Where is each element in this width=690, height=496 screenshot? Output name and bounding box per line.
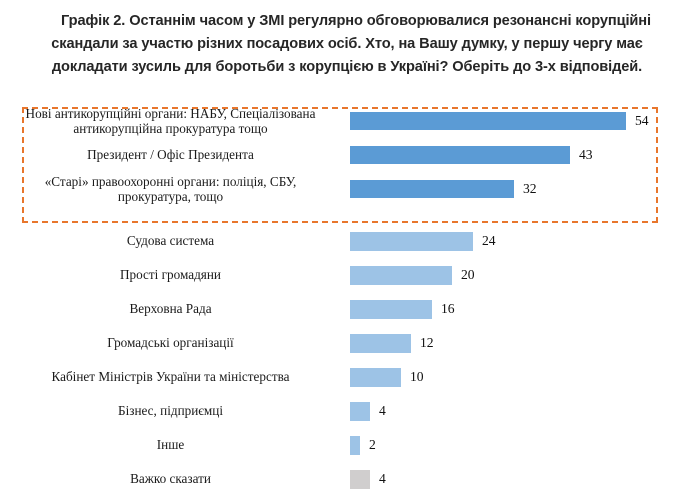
category-label: Нові антикорупційні органи: НАБУ, Спеціа… <box>0 106 345 137</box>
bar-container: 10 <box>345 360 690 394</box>
bar-row: Інше 2 <box>0 428 690 462</box>
bar-rect <box>350 368 401 387</box>
bar-rect <box>350 334 411 353</box>
bar-row: Нові антикорупційні органи: НАБУ, Спеціа… <box>0 104 690 138</box>
bar-row: Кабінет Міністрів України та міністерств… <box>0 360 690 394</box>
bar-value-label: 16 <box>441 301 455 317</box>
bar-rect <box>350 300 432 319</box>
bar-row: Бізнес, підприємці 4 <box>0 394 690 428</box>
bar-value-label: 4 <box>379 403 386 419</box>
bar-row: Судова система 24 <box>0 224 690 258</box>
category-label: Громадські організації <box>0 335 345 351</box>
bar-row: Верховна Рада 16 <box>0 292 690 326</box>
bar-value-label: 43 <box>579 147 593 163</box>
category-label: Судова система <box>0 233 345 249</box>
bar-value-label: 12 <box>420 335 434 351</box>
bar-rect <box>350 402 370 421</box>
bar-value-label: 32 <box>523 181 537 197</box>
bar-row: Громадські організації 12 <box>0 326 690 360</box>
bar-container: 32 <box>345 172 690 206</box>
bar-rect <box>350 266 452 285</box>
bar-container: 54 <box>345 104 690 138</box>
bar-value-label: 4 <box>379 471 386 487</box>
category-label: Інше <box>0 437 345 453</box>
bar-container: 4 <box>345 394 690 428</box>
bar-rect <box>350 232 473 251</box>
bar-value-label: 24 <box>482 233 496 249</box>
category-label: Кабінет Міністрів України та міністерств… <box>0 369 345 385</box>
bar-row: Важко сказати 4 <box>0 462 690 496</box>
bar-rect <box>350 470 370 489</box>
chart-plot-area: Нові антикорупційні органи: НАБУ, Спеціа… <box>0 104 690 484</box>
bar-row: Прості громадяни 20 <box>0 258 690 292</box>
bar-container: 16 <box>345 292 690 326</box>
bar-value-label: 54 <box>635 113 649 129</box>
bar-value-label: 20 <box>461 267 475 283</box>
bar-container: 4 <box>345 462 690 496</box>
category-label: Верховна Рада <box>0 301 345 317</box>
bar-row: Президент / Офіс Президента 43 <box>0 138 690 172</box>
bar-rect <box>350 436 360 455</box>
page-title: Графік 2. Останнім часом у ЗМІ регулярно… <box>30 10 664 79</box>
bar-value-label: 10 <box>410 369 424 385</box>
category-label: Президент / Офіс Президента <box>0 147 345 163</box>
category-label: «Старі» правоохоронні органи: поліція, С… <box>0 174 345 205</box>
category-label: Прості громадяни <box>0 267 345 283</box>
category-label: Важко сказати <box>0 471 345 487</box>
bar-rect <box>350 112 626 130</box>
bar-container: 24 <box>345 224 690 258</box>
bar-rect <box>350 146 570 164</box>
bar-container: 2 <box>345 428 690 462</box>
category-label: Бізнес, підприємці <box>0 403 345 419</box>
bar-container: 43 <box>345 138 690 172</box>
bar-container: 20 <box>345 258 690 292</box>
bar-container: 12 <box>345 326 690 360</box>
bar-row: «Старі» правоохоронні органи: поліція, С… <box>0 172 690 206</box>
bar-value-label: 2 <box>369 437 376 453</box>
bar-rect <box>350 180 514 198</box>
